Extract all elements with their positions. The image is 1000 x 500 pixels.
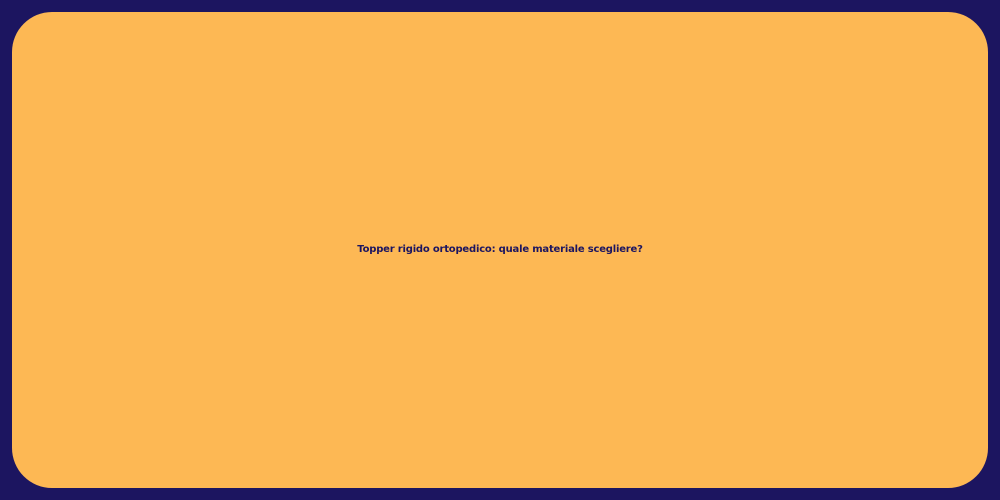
banner-headline: Topper rigido ortopedico: quale material… [12,244,988,257]
banner-root: Topper rigido ortopedico: quale material… [0,0,1000,500]
banner-panel: Topper rigido ortopedico: quale material… [12,12,988,488]
